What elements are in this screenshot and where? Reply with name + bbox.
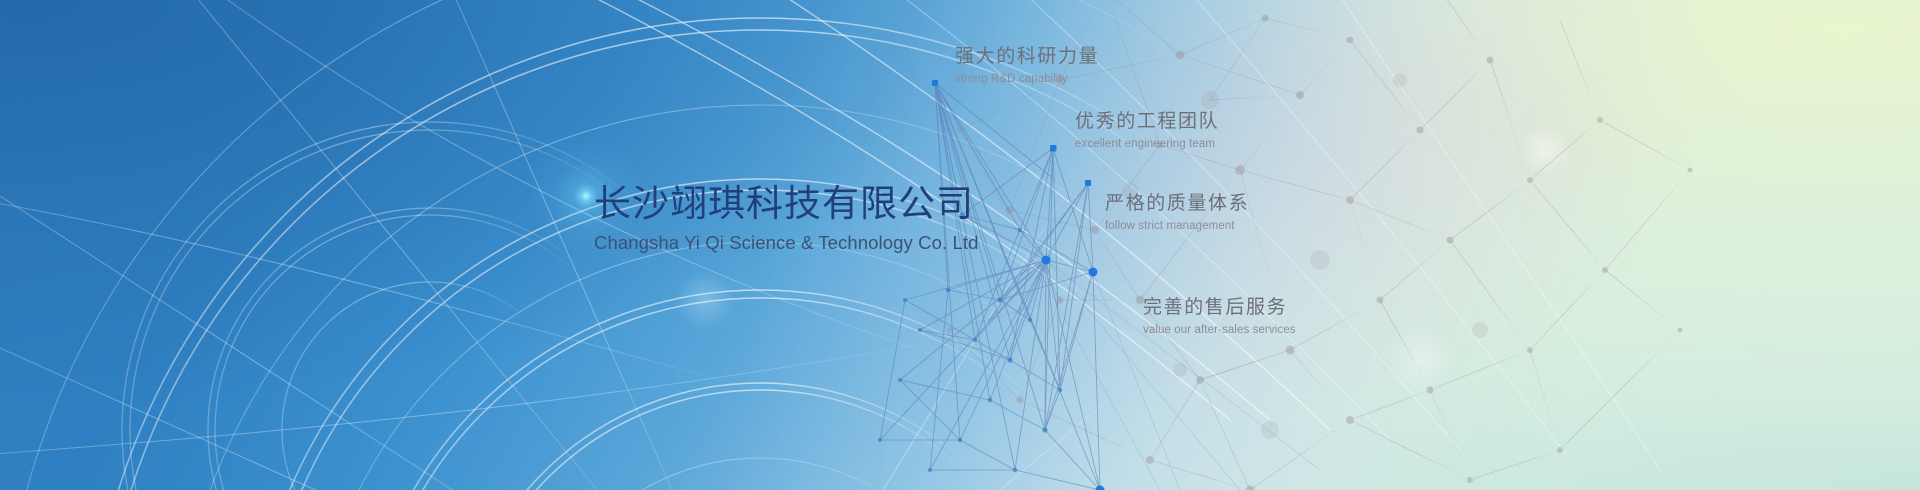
feature-callout-quality: 严格的质量体系 follow strict management <box>1105 192 1249 233</box>
feature-label-cn: 强大的科研力量 <box>955 45 1099 69</box>
feature-callout-engineering: 优秀的工程团队 excellent engineering team <box>1075 110 1219 151</box>
company-title-block: 长沙翊琪科技有限公司 Changsha Yi Qi Science & Tech… <box>594 183 1014 254</box>
feature-label-en: excellent engineering team <box>1075 137 1219 151</box>
feature-label-cn: 严格的质量体系 <box>1105 192 1249 216</box>
feature-label-cn: 完善的售后服务 <box>1143 296 1296 320</box>
feature-label-en: value our after-sales services <box>1143 323 1296 337</box>
feature-label-cn: 优秀的工程团队 <box>1075 110 1219 134</box>
feature-callout-service: 完善的售后服务 value our after-sales services <box>1143 296 1296 337</box>
company-name-english: Changsha Yi Qi Science & Technology Co. … <box>594 232 1014 254</box>
feature-label-en: strong R&D capability <box>955 72 1099 86</box>
company-name-chinese: 长沙翊琪科技有限公司 <box>594 183 1014 227</box>
hero-banner: 长沙翊琪科技有限公司 Changsha Yi Qi Science & Tech… <box>0 0 1920 490</box>
feature-label-en: follow strict management <box>1105 219 1249 233</box>
feature-callout-rd: 强大的科研力量 strong R&D capability <box>955 45 1099 86</box>
